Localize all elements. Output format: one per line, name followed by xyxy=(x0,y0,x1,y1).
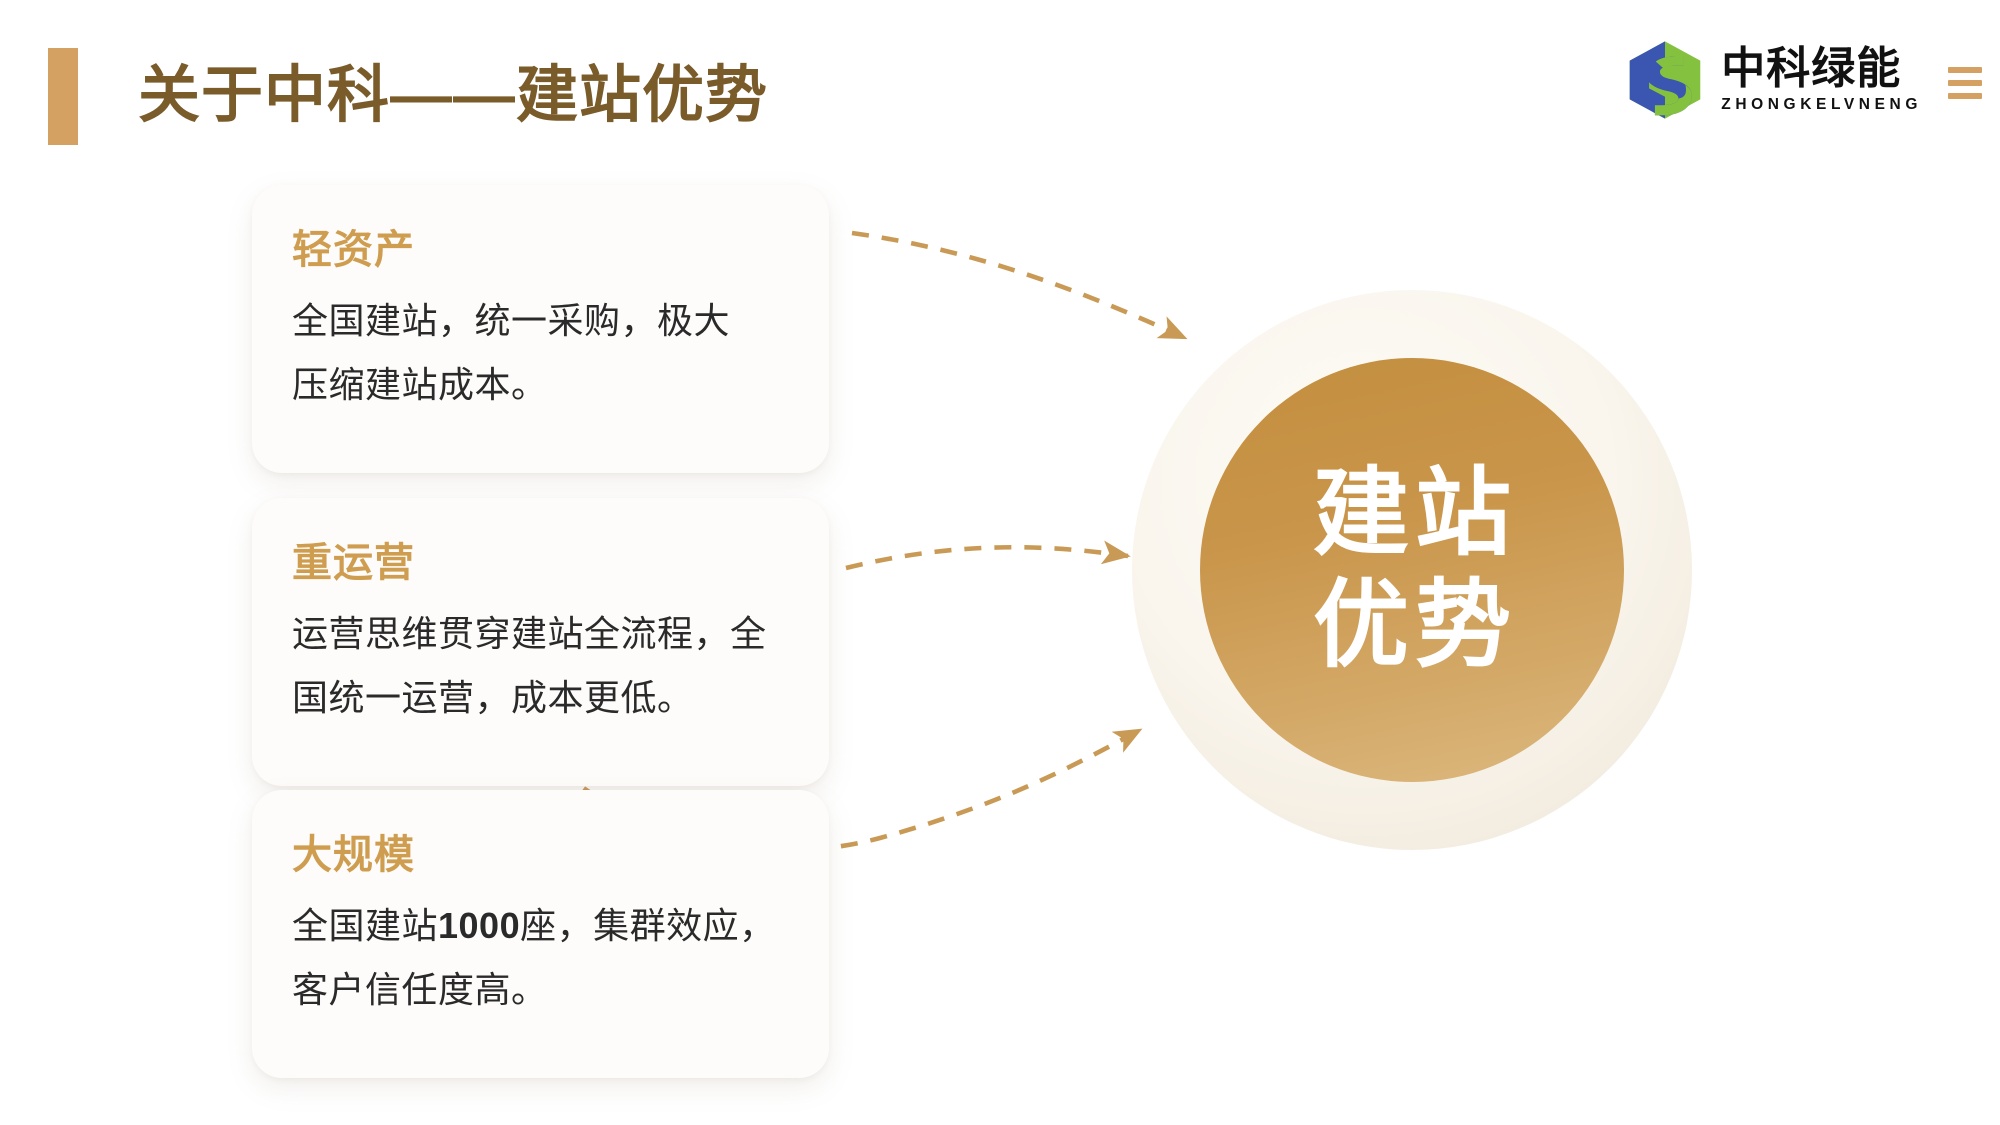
logo-pinyin: ZHONGKELVNENG xyxy=(1721,95,1922,115)
hexagon-logo-icon xyxy=(1623,38,1707,122)
card-body-line: 压缩建站成本。 xyxy=(292,353,789,417)
page-title: 关于中科——建站优势 xyxy=(138,52,768,140)
card-body-suffix: 座，集群效应， xyxy=(520,905,776,946)
hamburger-bar-1 xyxy=(1948,67,1982,73)
card-heading: 大规模 xyxy=(292,828,789,882)
card-body-line: 全国建站1000座，集群效应， xyxy=(292,894,789,958)
card-heading: 轻资产 xyxy=(292,223,789,277)
card-body: 全国建站，统一采购，极大 压缩建站成本。 xyxy=(292,289,789,417)
connector-arrow-1 xyxy=(852,233,1185,338)
card-body-line: 运营思维贯穿建站全流程，全 xyxy=(292,602,789,666)
feature-card-scale[interactable]: 大规模 全国建站1000座，集群效应， 客户信任度高。 xyxy=(252,790,829,1078)
card-body: 运营思维贯穿建站全流程，全 国统一运营，成本更低。 xyxy=(292,602,789,730)
connector-arrow-2 xyxy=(846,547,1128,568)
logo-wordmark: 中科绿能 ZHONGKELVNENG xyxy=(1721,41,1922,119)
card-body-line: 国统一运营，成本更低。 xyxy=(292,666,789,730)
hamburger-bar-2 xyxy=(1948,80,1982,86)
hamburger-icon[interactable] xyxy=(1948,67,1982,99)
center-circle[interactable]: 建站 优势 xyxy=(1200,358,1624,782)
center-label-line-1: 建站 xyxy=(1307,458,1517,570)
hamburger-bar-3 xyxy=(1948,93,1982,99)
card-body: 全国建站1000座，集群效应， 客户信任度高。 xyxy=(292,894,789,1022)
card-body-highlight: 1000 xyxy=(438,905,520,946)
brand-logo: 中科绿能 ZHONGKELVNENG xyxy=(1623,38,1982,122)
feature-card-operations[interactable]: 重运营 运营思维贯穿建站全流程，全 国统一运营，成本更低。 xyxy=(252,498,829,786)
logo-name: 中科绿能 xyxy=(1721,45,1922,93)
card-body-prefix: 全国建站 xyxy=(292,905,438,946)
card-body-line: 全国建站，统一采购，极大 xyxy=(292,289,789,353)
card-heading: 重运营 xyxy=(292,536,789,590)
feature-card-light-asset[interactable]: 轻资产 全国建站，统一采购，极大 压缩建站成本。 xyxy=(252,185,829,473)
center-label-line-2: 优势 xyxy=(1307,570,1517,682)
title-accent-bar xyxy=(48,48,78,145)
slide-canvas: 关于中科——建站优势 中科绿能 ZHONGKELVNENG xyxy=(0,0,2000,1125)
card-body-line: 客户信任度高。 xyxy=(292,958,789,1022)
